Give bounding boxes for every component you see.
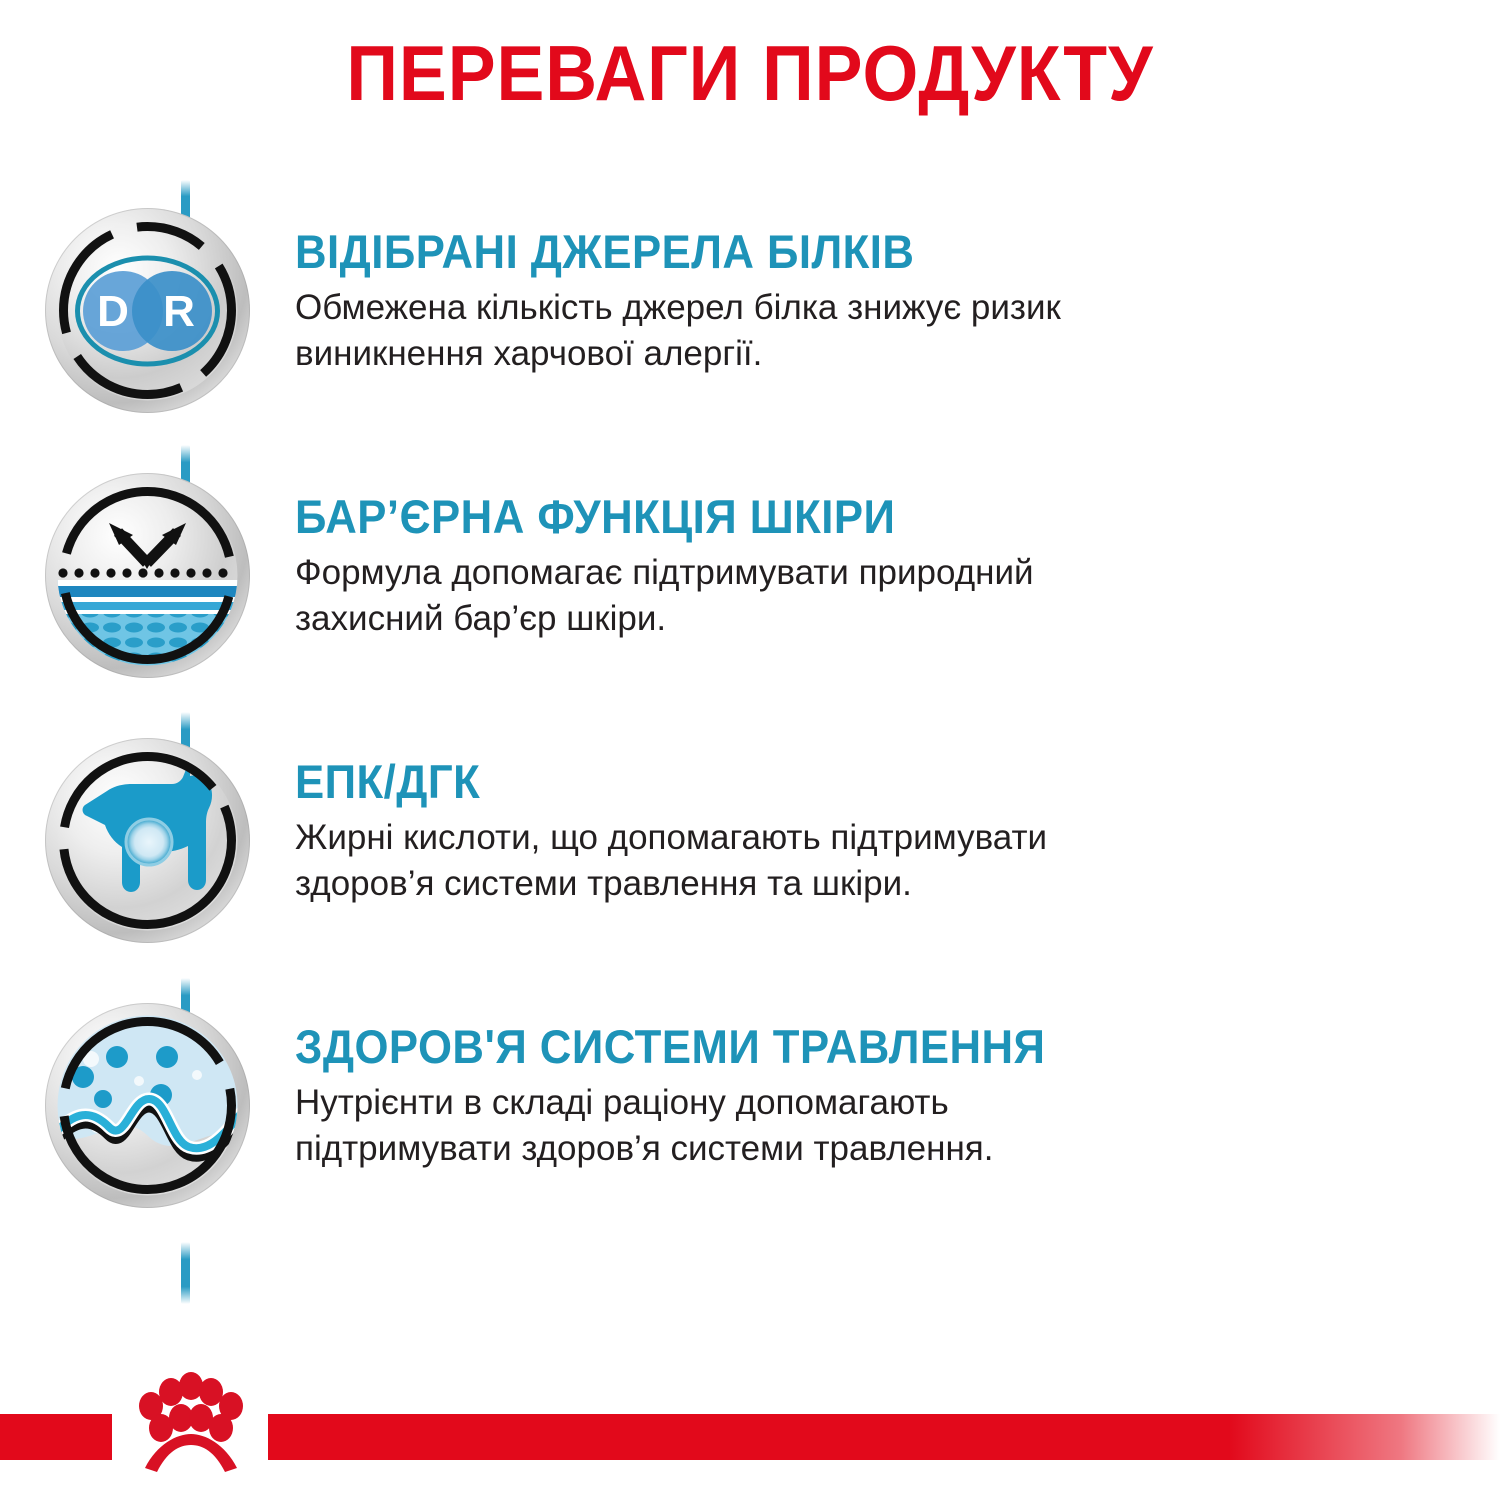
brand-bar-right-segment (268, 1414, 1500, 1460)
benefit-icon-column-4 (0, 975, 295, 1208)
benefit-text-column-4: ЗДОРОВ'Я СИСТЕМИ ТРАВЛЕННЯ Нутрієнти в с… (295, 975, 1162, 1171)
benefit-text-column-3: ЕПК/ДГК Жирні кислоти, що допомагають пі… (295, 710, 1107, 906)
digestive-wave-icon-inner (57, 1015, 238, 1196)
dr-letter-r: R (163, 287, 195, 336)
dog-silhouette-icon (45, 738, 250, 943)
benefit-heading-4: ЗДОРОВ'Я СИСТЕМИ ТРАВЛЕННЯ (295, 1023, 1045, 1070)
connector-line-bottom (181, 1242, 190, 1304)
benefit-heading-3: ЕПК/ДГК (295, 758, 994, 805)
dr-badge-icon-inner: D R (57, 220, 238, 401)
dr-badge-icon: D R (45, 208, 250, 413)
dog-silhouette-glyph (57, 750, 238, 931)
page-title: ПЕРЕВАГИ ПРОДУКТУ (60, 34, 1440, 112)
benefit-body-1: Обмежена кількість джерел білка знижує р… (295, 285, 1061, 376)
benefit-icon-column-2 (0, 445, 295, 678)
benefit-item-1: D R ВІДІБРАНІ ДЖЕРЕЛА БІЛКІВ Обмежена кі… (0, 180, 1500, 445)
digestive-wave-icon (45, 1003, 250, 1208)
skin-barrier-icon (45, 473, 250, 678)
benefit-text-column-2: БАР’ЄРНА ФУНКЦІЯ ШКІРИ Формула допомагає… (295, 445, 1094, 641)
dr-badge-glyph: D R (57, 220, 238, 401)
benefit-body-2: Формула допомагає підтримувати природний… (295, 550, 1034, 641)
dr-letter-d: D (97, 287, 129, 336)
benefits-list: D R ВІДІБРАНІ ДЖЕРЕЛА БІЛКІВ Обмежена кі… (0, 180, 1500, 1240)
benefit-item-3: ЕПК/ДГК Жирні кислоти, що допомагають пі… (0, 710, 1500, 975)
digestive-wave-glyph (57, 1015, 238, 1196)
benefit-item-4: ЗДОРОВ'Я СИСТЕМИ ТРАВЛЕННЯ Нутрієнти в с… (0, 975, 1500, 1240)
dog-silhouette-icon-inner (57, 750, 238, 931)
benefit-item-2: БАР’ЄРНА ФУНКЦІЯ ШКІРИ Формула допомагає… (0, 445, 1500, 710)
skin-barrier-glyph (57, 485, 238, 666)
benefit-icon-column-1: D R (0, 180, 295, 413)
benefit-body-4: Нутрієнти в складі раціону допомагають п… (295, 1080, 1102, 1171)
benefit-body-3: Жирні кислоти, що допомагають підтримува… (295, 815, 1047, 906)
benefit-heading-2: БАР’ЄРНА ФУНКЦІЯ ШКІРИ (295, 493, 982, 540)
brand-bar-left-segment (0, 1414, 112, 1460)
benefit-icon-column-3 (0, 710, 295, 943)
benefit-heading-1: ВІДІБРАНІ ДЖЕРЕЛА БІЛКІВ (295, 228, 1007, 275)
benefit-text-column-1: ВІДІБРАНІ ДЖЕРЕЛА БІЛКІВ Обмежена кількі… (295, 180, 1121, 376)
skin-barrier-icon-inner (57, 485, 238, 666)
royal-canin-crown-logo (105, 1370, 275, 1490)
